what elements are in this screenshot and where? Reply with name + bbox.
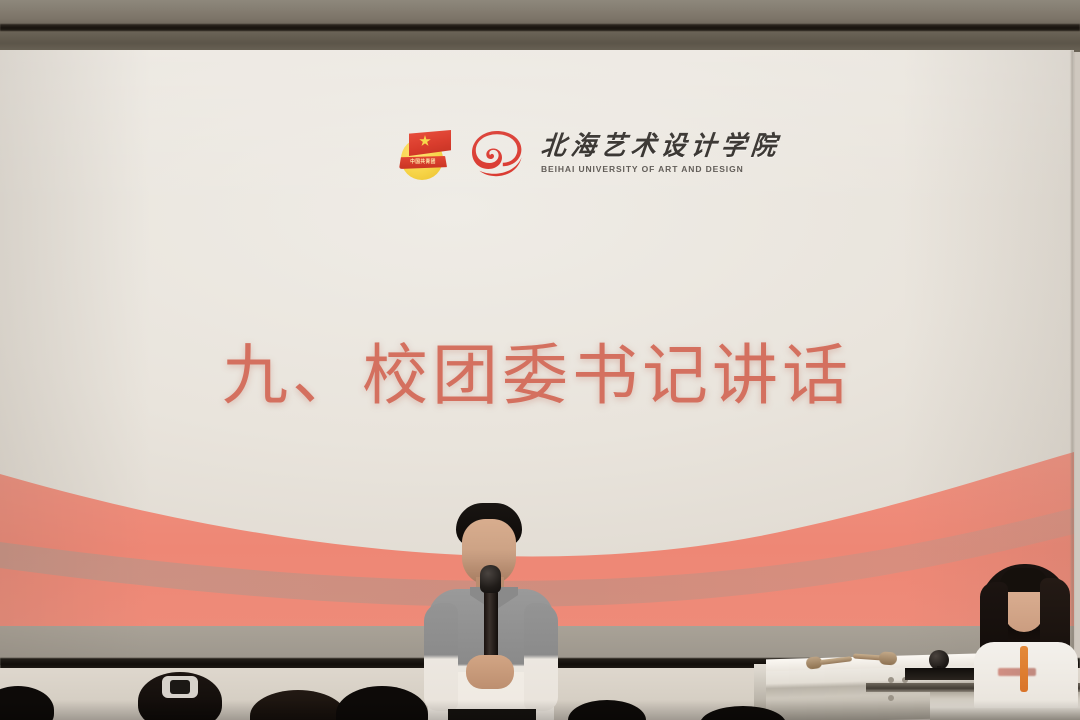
communist-youth-league-emblem-icon: 中国共青团 xyxy=(395,128,455,180)
speaker-hands xyxy=(466,655,514,689)
ceiling-shadow-line xyxy=(0,24,1080,31)
microphone-body xyxy=(484,589,498,663)
school-name-en: BEIHAI UNIVERSITY OF ART AND DESIGN xyxy=(541,164,781,174)
emblem-ribbon-text: 中国共青团 xyxy=(400,156,446,169)
speaker-right-arm xyxy=(524,603,558,711)
slide-title: 九、校团委书记讲话 xyxy=(0,322,1074,418)
audience-hair-clip-detail xyxy=(170,680,190,694)
speaker-left-arm xyxy=(424,603,458,711)
speaker-with-microphone xyxy=(418,503,568,720)
woman-lanyard xyxy=(1020,646,1028,692)
woman-at-desk xyxy=(962,560,1080,720)
photo-scene: 中国共青团 北海艺术设计学院 BEIHAI UNIVERSITY OF ART … xyxy=(0,0,1080,720)
woman-shirt-print xyxy=(998,668,1036,676)
red-spiral-logo-icon xyxy=(469,128,525,180)
ceiling-soffit xyxy=(0,30,1080,52)
microphone-head-icon xyxy=(480,565,501,593)
school-wordmark: 北海艺术设计学院 BEIHAI UNIVERSITY OF ART AND DE… xyxy=(541,134,781,174)
speaker-trousers xyxy=(448,709,536,720)
school-name-cn: 北海艺术设计学院 xyxy=(540,133,783,159)
slide-header-logo: 中国共青团 北海艺术设计学院 BEIHAI UNIVERSITY OF ART … xyxy=(395,128,781,180)
